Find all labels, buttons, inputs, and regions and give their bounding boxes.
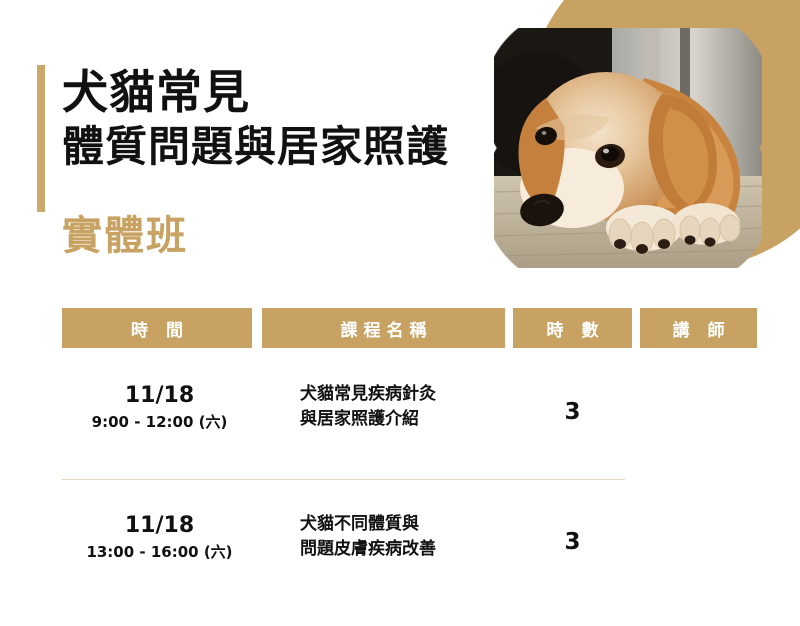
page-subtitle: 實體班 [62,212,188,260]
column-header-time: 時 間 [62,308,252,348]
column-header-lecturer: 講 師 [640,308,757,348]
cell-course: 犬貓不同體質與 問題皮膚疾病改善 [300,512,510,562]
cell-course: 犬貓常見疾病針灸 與居家照護介紹 [300,382,510,432]
title-accent-bar [37,65,45,212]
cell-hours: 3 [513,382,632,426]
course-line-2: 問題皮膚疾病改善 [300,537,510,562]
row-time-range: 13:00 - 16:00 (六) [62,541,257,563]
cell-time: 11/18 13:00 - 16:00 (六) [62,512,257,563]
schedule-table: 時 間 課程名稱 時 數 講 師 11/18 9:00 - 12:00 (六) … [0,290,800,626]
hero-section: 犬貓常見 體質問題與居家照護 實體班 [0,0,800,290]
row-time-range: 9:00 - 12:00 (六) [62,411,257,433]
dog-photo [494,28,762,268]
row-divider [62,479,625,480]
title-line-2: 體質問題與居家照護 [62,122,512,172]
course-line-1: 犬貓常見疾病針灸 [300,382,510,407]
row-date: 11/18 [62,382,257,409]
table-header-row: 時 間 課程名稱 時 數 講 師 [0,308,800,348]
course-poster: 犬貓常見 體質問題與居家照護 實體班 時 間 課程名稱 時 數 講 師 11/1… [0,0,800,626]
row-date: 11/18 [62,512,257,539]
title-line-1: 犬貓常見 [62,66,512,118]
column-header-course: 課程名稱 [262,308,505,348]
column-header-hours: 時 數 [513,308,632,348]
cell-time: 11/18 9:00 - 12:00 (六) [62,382,257,433]
page-title: 犬貓常見 體質問題與居家照護 [62,66,512,172]
course-line-2: 與居家照護介紹 [300,407,510,432]
course-line-1: 犬貓不同體質與 [300,512,510,537]
cell-hours: 3 [513,512,632,556]
